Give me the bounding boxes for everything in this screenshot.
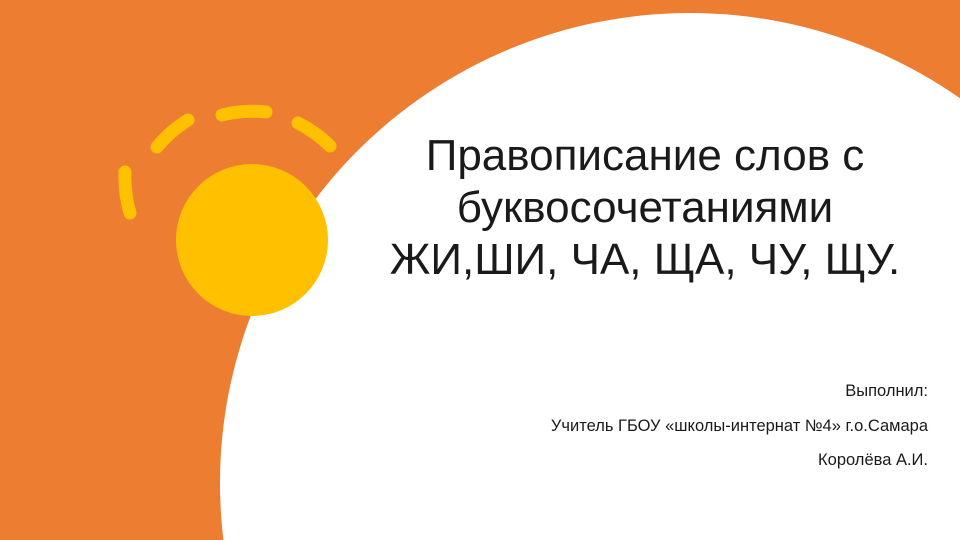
- sun-icon: [176, 164, 328, 316]
- subtitle-line-author-name: Королёва А.И.: [368, 443, 928, 478]
- page-title: Правописание слов с буквосочетаниями ЖИ,…: [340, 130, 950, 286]
- subtitle-block: Выполнил: Учитель ГБОУ «школы-интернат №…: [368, 374, 928, 478]
- sun-ray-icon-2: [157, 120, 188, 147]
- sun-ray-icon-3: [222, 111, 266, 115]
- sun-ray-icon-1: [125, 172, 130, 213]
- subtitle-line-school: Учитель ГБОУ «школы-интернат №4» г.о.Сам…: [368, 409, 928, 444]
- subtitle-line-author-label: Выполнил:: [368, 374, 928, 409]
- sun-ray-icon-4: [298, 123, 330, 146]
- title-block: Правописание слов с буквосочетаниями ЖИ,…: [340, 130, 950, 286]
- slide-canvas: Правописание слов с буквосочетаниями ЖИ,…: [0, 0, 960, 540]
